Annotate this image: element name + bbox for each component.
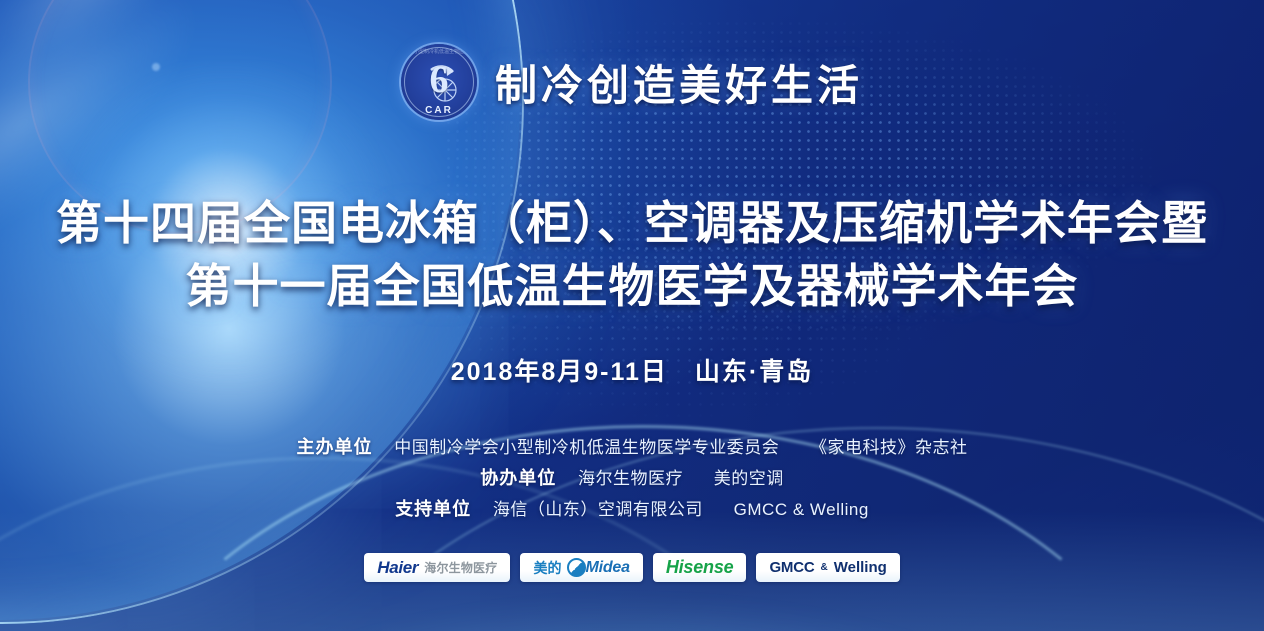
title-line-1: 第十四届全国电冰箱（柜）、空调器及压缩机学术年会暨 <box>0 192 1264 255</box>
organizer-item-supporter-2: GMCC & Welling <box>734 500 869 519</box>
midea-circle-icon <box>567 558 586 577</box>
organizer-item-supporter-1: 海信（山东）空调有限公司 <box>493 500 703 519</box>
svg-text:中国制冷学会小型制冷机低温生物医学专业委员会: 中国制冷学会小型制冷机低温生物医学专业委员会 <box>401 48 477 55</box>
sponsor-badge-row: Haier 海尔生物医疗 美的 Midea Hisense GMCC & Wel… <box>0 553 1264 582</box>
organizer-label-supporter: 支持单位 <box>395 499 471 519</box>
welling-wordmark: Welling <box>834 559 887 576</box>
haier-badge[interactable]: Haier 海尔生物医疗 <box>364 553 510 582</box>
organizer-item-coorganizer-1: 海尔生物医疗 <box>578 469 683 488</box>
conference-poster: 中国制冷学会小型制冷机低温生物医学专业委员会 6 CAR 制冷创造美好生活 第十… <box>0 0 1264 631</box>
midea-logo-icon: Midea <box>567 558 629 577</box>
midea-wordmark: Midea <box>585 559 629 577</box>
gmcc-welling-badge[interactable]: GMCC & Welling <box>756 553 899 582</box>
midea-chinese-name: 美的 <box>533 558 561 578</box>
organizer-label-coorganizer: 协办单位 <box>480 468 556 488</box>
organizer-row-coorganizer: 协办单位 海尔生物医疗 美的空调 <box>0 463 1264 494</box>
haier-wordmark: Haier <box>377 558 418 578</box>
organizer-row-supporter: 支持单位 海信（山东）空调有限公司 GMCC & Welling <box>0 494 1264 525</box>
emblem-numeral: 6 <box>429 61 448 99</box>
date-location-text: 2018年8月9-11日 山东·青岛 <box>0 352 1264 388</box>
midea-badge[interactable]: 美的 Midea <box>520 553 642 582</box>
page-title: 第十四届全国电冰箱（柜）、空调器及压缩机学术年会暨 第十一届全国低温生物医学及器… <box>0 192 1264 318</box>
title-line-2: 第十一届全国低温生物医学及器械学术年会 <box>0 255 1264 318</box>
organizer-item-coorganizer-2: 美的空调 <box>714 469 784 488</box>
haier-chinese-name: 海尔生物医疗 <box>424 559 497 576</box>
hisense-badge[interactable]: Hisense <box>653 553 747 582</box>
hisense-wordmark: Hisense <box>666 557 734 578</box>
car-emblem-icon: 中国制冷学会小型制冷机低温生物医学专业委员会 6 CAR <box>401 44 477 120</box>
organizer-row-host: 主办单位 中国制冷学会小型制冷机低温生物医学专业委员会 《家电科技》杂志社 <box>0 432 1264 463</box>
organizers-block: 主办单位 中国制冷学会小型制冷机低温生物医学专业委员会 《家电科技》杂志社 协办… <box>0 432 1264 525</box>
emblem-acronym: CAR <box>401 105 477 116</box>
header-row: 中国制冷学会小型制冷机低温生物医学专业委员会 6 CAR 制冷创造美好生活 <box>0 44 1264 120</box>
poster-content: 中国制冷学会小型制冷机低温生物医学专业委员会 6 CAR 制冷创造美好生活 第十… <box>0 0 1264 631</box>
ampersand-glyph: & <box>820 562 827 573</box>
gmcc-wordmark: GMCC <box>769 559 814 576</box>
organizer-item-host-1: 中国制冷学会小型制冷机低温生物医学专业委员会 <box>394 438 779 457</box>
organizer-label-host: 主办单位 <box>297 437 373 457</box>
organizer-item-host-2: 《家电科技》杂志社 <box>810 438 968 457</box>
slogan-text: 制冷创造美好生活 <box>495 52 863 113</box>
